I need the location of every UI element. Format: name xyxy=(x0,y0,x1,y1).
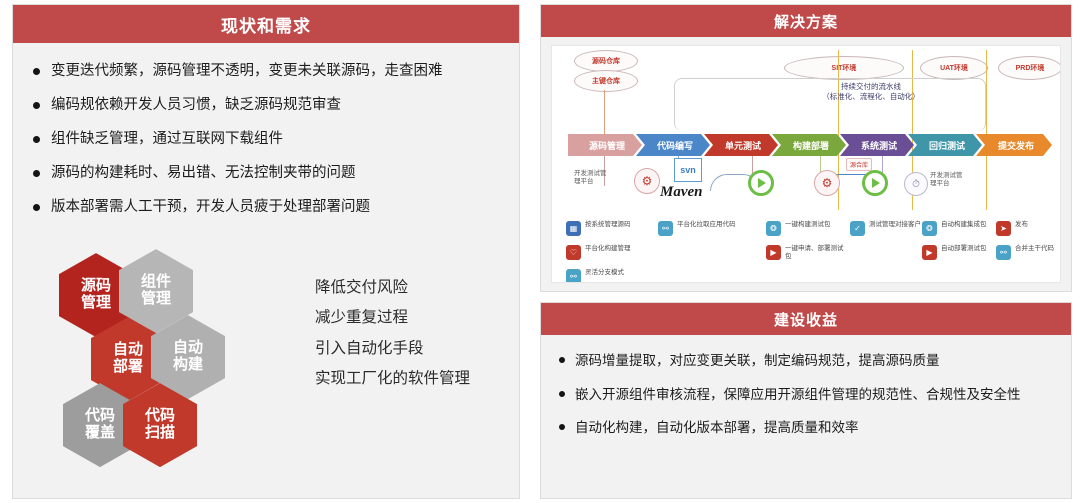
legend-label: 平台化构建管理 xyxy=(585,245,631,253)
legend-column-6: ➤ 发布 ⚯ 合并主干代码 xyxy=(996,221,1054,269)
legend-label: 一键申请、部署测试包 xyxy=(785,245,847,262)
hex-label-line2: 构建 xyxy=(173,357,203,374)
heart-icon: ♡ xyxy=(566,245,581,260)
legend-label: 灵活分支模式 xyxy=(585,269,624,277)
pipeline-stages: 源码管理 代码编写 单元测试 构建部署 系统测试 回归测试 提交发布 xyxy=(568,134,1046,156)
list-item: 组件缺乏管理，通过互联网下载组件 xyxy=(31,129,505,150)
panel-current-title: 现状和需求 xyxy=(13,5,519,43)
branch-icon: ⚯ xyxy=(658,221,673,236)
pipeline-note-line2: （标准化、流程化、自动化） xyxy=(766,92,976,102)
stage-system-test[interactable]: 系统测试 xyxy=(840,134,914,156)
hex-label-line1: 自动 xyxy=(173,340,203,357)
cicd-pipeline-diagram: 源码仓库 主键仓库 SIT环境 UAT环境 PRD环境 持续交付的流水线 （标准… xyxy=(551,45,1061,283)
gear-small-icon: ❂ xyxy=(922,221,937,236)
hex-label-line1: 代码 xyxy=(85,408,115,425)
check-icon: ✓ xyxy=(850,221,865,236)
dev-test-platform-label-left: 开发测试管理平台 xyxy=(574,170,630,186)
legend-item: ❂ 一键构建测试包 xyxy=(766,221,847,236)
legend-item: ⚯ 灵活分支模式 xyxy=(566,269,631,283)
hex-label-line2: 覆盖 xyxy=(85,425,115,442)
slide-canvas: 现状和需求 变更迭代频繁，源码管理不透明，变更未关联源码，走查困难 编码规依赖开… xyxy=(0,0,1080,503)
legend-item: ❂ 自动构建集成包 xyxy=(922,221,987,236)
oval-uat-environment: UAT环境 xyxy=(920,56,988,80)
legend-item: ⚯ 合并主干代码 xyxy=(996,245,1054,260)
meter-icon: ⏱ xyxy=(904,172,928,196)
legend-item: ✓ 测试管理对接客户 xyxy=(850,221,921,236)
legend-label: 按系统管理源码 xyxy=(585,221,631,229)
legend-item: ▦ 按系统管理源码 xyxy=(566,221,631,236)
panel-solution-title: 解决方案 xyxy=(541,5,1071,37)
hex-label-line1: 组件 xyxy=(141,274,171,291)
hex-label-line2: 扫描 xyxy=(145,425,175,442)
legend-label: 自动部署测试包 xyxy=(941,245,987,253)
legend-label: 合并主干代码 xyxy=(1015,245,1054,253)
goal-list: 降低交付风险 减少重复过程 引入自动化手段 实现工厂化的软件管理 xyxy=(315,273,470,394)
oval-prd-environment: PRD环境 xyxy=(998,56,1061,80)
goal-item: 实现工厂化的软件管理 xyxy=(315,364,470,394)
stage-unit-test[interactable]: 单元测试 xyxy=(704,134,778,156)
legend-label: 发布 xyxy=(1015,221,1028,229)
panel-current-situation: 现状和需求 变更迭代频繁，源码管理不透明，变更未关联源码，走查困难 编码规依赖开… xyxy=(12,4,520,499)
hex-label-line1: 自动 xyxy=(113,342,143,359)
legend-column-1: ▦ 按系统管理源码 ♡ 平台化构建管理 ⚯ 灵活分支模式 xyxy=(566,221,631,283)
send-icon: ➤ xyxy=(996,221,1011,236)
svn-icon: svn xyxy=(674,158,702,182)
branch-icon: ⚯ xyxy=(996,245,1011,260)
gear-icon-deploy: ⚙ xyxy=(814,170,840,196)
grid-icon: ▦ xyxy=(566,221,581,236)
gear-small-icon: ❂ xyxy=(766,221,781,236)
hex-label-line1: 源码 xyxy=(81,278,111,295)
oval-sit-environment: SIT环境 xyxy=(784,56,904,80)
list-item: 嵌入开源组件审核流程，保障应用开源组件管理的规范性、合规性及安全性 xyxy=(557,385,1053,405)
legend-label: 测试管理对接客户 xyxy=(869,221,921,229)
stage-regression-test[interactable]: 回归测试 xyxy=(908,134,982,156)
goal-item: 降低交付风险 xyxy=(315,273,470,303)
panel-benefit: 建设收益 源码增量提取，对应变更关联，制定编码规范，提高源码质量 嵌入开源组件审… xyxy=(540,302,1072,499)
play-icon-deploy xyxy=(862,170,888,196)
panel-benefit-body: 源码增量提取，对应变更关联，制定编码规范，提高源码质量 嵌入开源组件审核流程，保… xyxy=(541,335,1071,438)
legend-label: 平台化拉取应用代码 xyxy=(677,221,736,229)
component-repo-tag: 源合库 xyxy=(846,158,872,171)
list-item: 变更迭代频繁，源码管理不透明，变更未关联源码，走查困难 xyxy=(31,61,505,82)
legend-item: ▶ 自动部署测试包 xyxy=(922,245,987,260)
list-item: 版本部署需人工干预，开发人员疲于处理部署问题 xyxy=(31,197,505,218)
legend-label: 一键构建测试包 xyxy=(785,221,831,229)
hexagon-cluster: 源码 管理 组件 管理 自动 部署 自动 构建 代码 覆盖 xyxy=(53,247,293,467)
legend-item: ⚯ 平台化拉取应用代码 xyxy=(658,221,736,236)
oval-source-repo: 源码仓库 xyxy=(574,50,638,72)
hex-label-line1: 代码 xyxy=(145,408,175,425)
stage-submit-release[interactable]: 提交发布 xyxy=(976,134,1052,156)
panel-solution: 解决方案 源码仓库 主键仓库 SIT环境 UAT环境 PRD环境 持续交付的流水… xyxy=(540,4,1072,292)
oval-build-repo: 主键仓库 xyxy=(574,70,638,92)
list-item: 源码的构建耗时、易出错、无法控制夹带的问题 xyxy=(31,163,505,184)
list-item: 编码规依赖开发人员习惯，缺乏源码规范审查 xyxy=(31,95,505,116)
dev-test-platform-label-right: 开发测试管理平台 xyxy=(930,172,986,188)
legend-column-3: ❂ 一键构建测试包 ▶ 一键申请、部署测试包 xyxy=(766,221,847,271)
panel-solution-body: 源码仓库 主键仓库 SIT环境 UAT环境 PRD环境 持续交付的流水线 （标准… xyxy=(541,37,1071,291)
play-small-icon: ▶ xyxy=(922,245,937,260)
stage-source-management[interactable]: 源码管理 xyxy=(568,134,642,156)
stage-code-writing[interactable]: 代码编写 xyxy=(636,134,710,156)
gear-icon: ⚙ xyxy=(634,168,660,194)
legend-column-4: ✓ 测试管理对接客户 xyxy=(850,221,921,245)
current-bullet-list: 变更迭代频繁，源码管理不透明，变更未关联源码，走查困难 编码规依赖开发人员习惯，… xyxy=(31,61,505,218)
goal-item: 减少重复过程 xyxy=(315,303,470,333)
play-icon-build xyxy=(748,170,774,196)
legend-column-2: ⚯ 平台化拉取应用代码 xyxy=(658,221,736,245)
branch-icon: ⚯ xyxy=(566,269,581,283)
play-small-icon: ▶ xyxy=(766,245,781,260)
hex-label-line2: 管理 xyxy=(81,295,111,312)
pipeline-note: 持续交付的流水线 （标准化、流程化、自动化） xyxy=(766,82,976,102)
legend-label: 自动构建集成包 xyxy=(941,221,987,229)
maven-logo: Maven xyxy=(660,184,703,201)
pipeline-note-line1: 持续交付的流水线 xyxy=(766,82,976,92)
stage-build-deploy[interactable]: 构建部署 xyxy=(772,134,846,156)
env-divider-prd xyxy=(986,50,987,210)
legend-item: ➤ 发布 xyxy=(996,221,1054,236)
panel-current-body: 变更迭代频繁，源码管理不透明，变更未关联源码，走查困难 编码规依赖开发人员习惯，… xyxy=(13,43,519,218)
legend-item: ♡ 平台化构建管理 xyxy=(566,245,631,260)
panel-benefit-title: 建设收益 xyxy=(541,303,1071,335)
legend-column-5: ❂ 自动构建集成包 ▶ 自动部署测试包 xyxy=(922,221,987,269)
list-item: 源码增量提取，对应变更关联，制定编码规范，提高源码质量 xyxy=(557,351,1053,371)
repo-connector-line xyxy=(604,90,605,134)
hex-label-line2: 管理 xyxy=(141,291,171,308)
list-item: 自动化构建，自动化版本部署，提高质量和效率 xyxy=(557,418,1053,438)
hex-label-line2: 部署 xyxy=(113,359,143,376)
goal-item: 引入自动化手段 xyxy=(315,334,470,364)
legend-item: ▶ 一键申请、部署测试包 xyxy=(766,245,847,262)
benefit-bullet-list: 源码增量提取，对应变更关联，制定编码规范，提高源码质量 嵌入开源组件审核流程，保… xyxy=(557,351,1053,438)
